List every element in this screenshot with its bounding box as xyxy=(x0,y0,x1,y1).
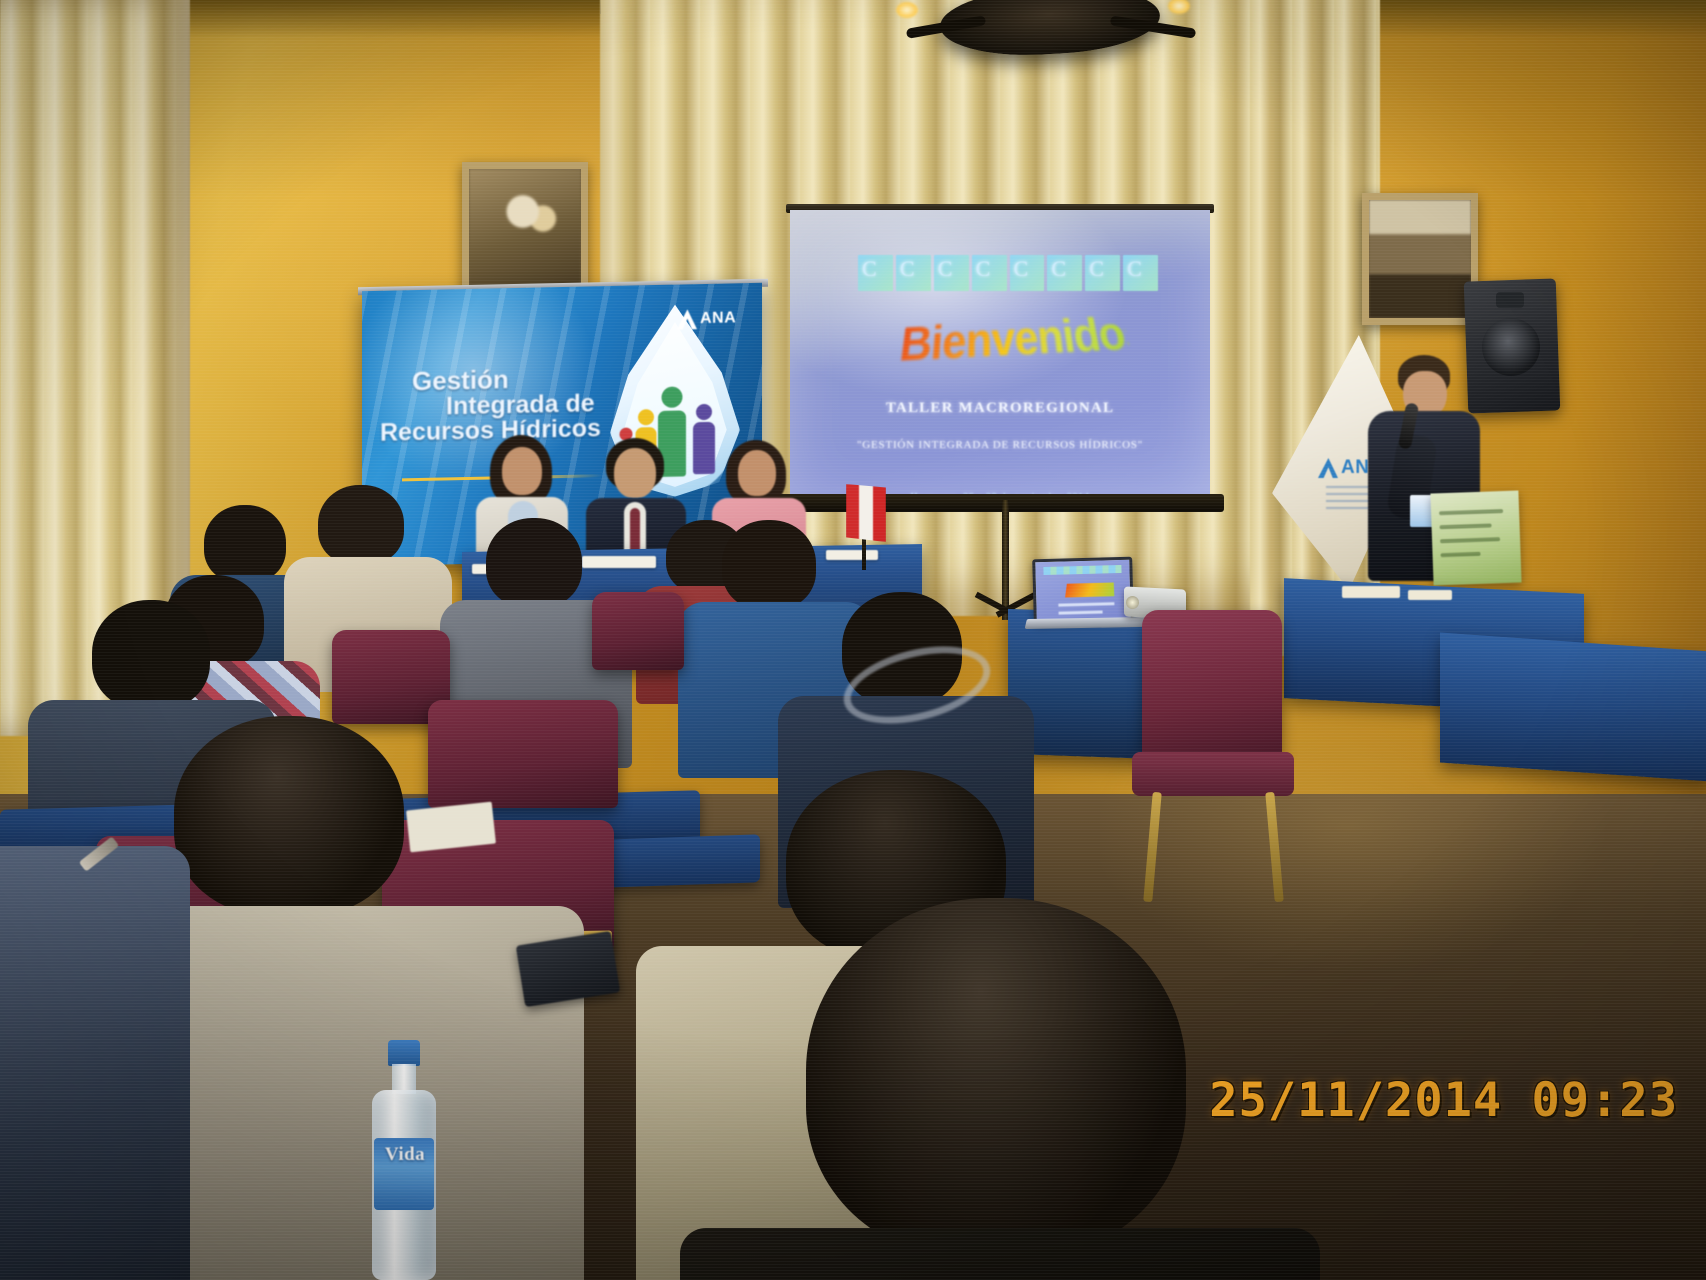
chair-leg xyxy=(1265,792,1284,902)
audience-chair xyxy=(428,700,618,808)
banquet-chair xyxy=(1132,610,1292,900)
side-table-papers xyxy=(1342,586,1400,598)
side-table-front xyxy=(1440,633,1706,782)
laptop-keyboard-base xyxy=(1025,617,1146,629)
pa-tweeter xyxy=(1496,292,1524,308)
laptop-slide-mirror xyxy=(1035,560,1130,620)
slide-title: TALLER MACROREGIONAL xyxy=(790,400,1210,417)
chair-backrest xyxy=(1142,610,1282,760)
slide-subtitle: "GESTIÓN INTEGRADA DE RECURSOS HÍDRICOS" xyxy=(790,438,1210,452)
chandelier-icon xyxy=(900,0,1200,118)
photo-scene: Bienvenidos TALLER MACROREGIONAL "GESTIÓ… xyxy=(0,0,1706,1280)
table-papers xyxy=(826,550,878,560)
peru-flag xyxy=(846,484,886,542)
green-poster xyxy=(1430,490,1521,585)
table-papers xyxy=(582,556,656,568)
screen-surface: Bienvenidos TALLER MACROREGIONAL "GESTIÓ… xyxy=(790,210,1210,505)
banner-text-block: Gestión Integrada de Recursos Hídricos xyxy=(384,364,624,447)
bottle-brand-text: Vida xyxy=(376,1144,434,1166)
audience-chair xyxy=(592,592,684,670)
side-table-papers xyxy=(1408,590,1452,600)
bottle-cap xyxy=(388,1040,420,1066)
ana-mark-icon xyxy=(1318,458,1338,478)
paper-sheet xyxy=(406,802,496,853)
framed-painting-left xyxy=(462,162,588,294)
slide-decor-strip xyxy=(858,255,1158,291)
banner-ana-word: ANA xyxy=(700,309,736,328)
ana-mark-icon xyxy=(677,309,697,329)
chair-leg xyxy=(1143,792,1162,902)
projector-lens xyxy=(1126,596,1139,609)
chair-seat xyxy=(1132,752,1294,796)
presenter-laptop xyxy=(1032,557,1134,624)
banner-ana-logo: ANA xyxy=(677,305,762,333)
slide-welcome-word: Bienvenidos xyxy=(893,308,1138,396)
camera-timestamp: 25/11/2014 09:23 xyxy=(1209,1073,1678,1128)
projection-screen: Bienvenidos TALLER MACROREGIONAL "GESTIÓ… xyxy=(790,210,1210,505)
framed-painting-right xyxy=(1362,193,1478,325)
water-bottle: Vida xyxy=(368,1040,440,1280)
